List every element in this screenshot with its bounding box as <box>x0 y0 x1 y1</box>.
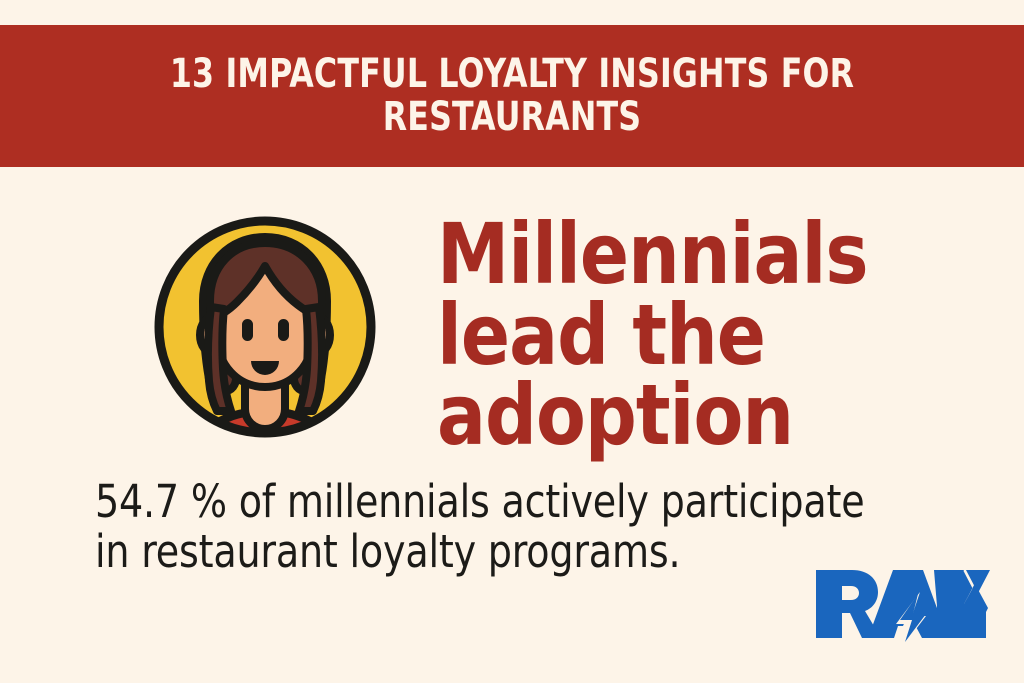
millennial-woman-avatar-icon <box>150 211 380 443</box>
headline-line-1: Millennials <box>437 214 975 295</box>
header-title-line-1: 13 IMPACTFUL LOYALTY INSIGHTS FOR <box>125 53 899 96</box>
header-title: 13 IMPACTFUL LOYALTY INSIGHTS FOR RESTAU… <box>125 53 899 139</box>
brand-name-text: RAY <box>812 650 813 651</box>
ray-lightning-bolt-logo: RAY <box>812 562 990 650</box>
header-banner: 13 IMPACTFUL LOYALTY INSIGHTS FOR RESTAU… <box>0 25 1024 167</box>
header-title-line-2: RESTAURANTS <box>125 96 899 139</box>
infographic-canvas: 13 IMPACTFUL LOYALTY INSIGHTS FOR RESTAU… <box>0 0 1024 683</box>
body-paragraph: 54.7 % of millennials actively participa… <box>95 477 925 578</box>
body-line-2: in restaurant loyalty programs. <box>95 527 875 577</box>
headline-line-2: lead the <box>437 295 975 376</box>
headline-line-3: adoption <box>437 375 975 456</box>
body-line-1: 54.7 % of millennials actively participa… <box>95 477 875 527</box>
headline: Millennials lead the adoption <box>437 214 997 456</box>
